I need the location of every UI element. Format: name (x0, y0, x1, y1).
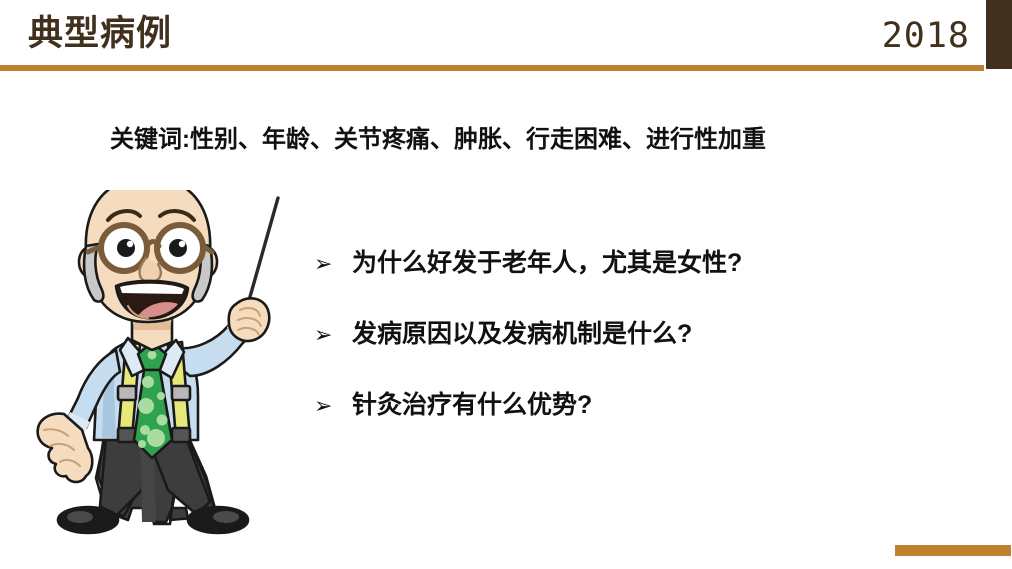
header-dark-accent-block (986, 0, 1012, 69)
bullet-text: 为什么好发于老年人，尤其是女性? (352, 246, 874, 280)
left-suspender-clip (118, 386, 136, 400)
footer-accent-bar (895, 545, 1011, 556)
left-eye (117, 239, 135, 257)
bullet-arrow-icon: ➢ (314, 318, 352, 352)
list-item: ➢ 针灸治疗有什么优势? (314, 388, 874, 423)
page-title: 典型病例 (28, 12, 172, 56)
right-suspender-clip (172, 386, 190, 400)
keywords-line: 关键词:性别、年龄、关节疼痛、肿胀、行走困难、进行性加重 (110, 119, 766, 154)
right-suspender-buckle (172, 428, 190, 442)
list-item: ➢ 发病原因以及发病机制是什么? (314, 317, 874, 352)
right-eye (169, 239, 187, 257)
right-hand (229, 298, 269, 341)
question-bullet-list: ➢ 为什么好发于老年人，尤其是女性? ➢ 发病原因以及发病机制是什么? ➢ 针灸… (314, 246, 874, 459)
slide-canvas: 典型病例 2018 关键词:性别、年龄、关节疼痛、肿胀、行走困难、进行性加重 (0, 0, 1012, 569)
header-divider-rule (0, 65, 984, 71)
list-item: ➢ 为什么好发于老年人，尤其是女性? (314, 246, 874, 281)
bullet-arrow-icon: ➢ (314, 389, 352, 423)
bullet-text: 针灸治疗有什么优势? (352, 388, 874, 422)
year-label: 2018 (882, 14, 970, 58)
cartoon-teacher-illustration (20, 190, 310, 540)
bullet-arrow-icon: ➢ (314, 247, 352, 281)
bullet-text: 发病原因以及发病机制是什么? (352, 317, 874, 351)
